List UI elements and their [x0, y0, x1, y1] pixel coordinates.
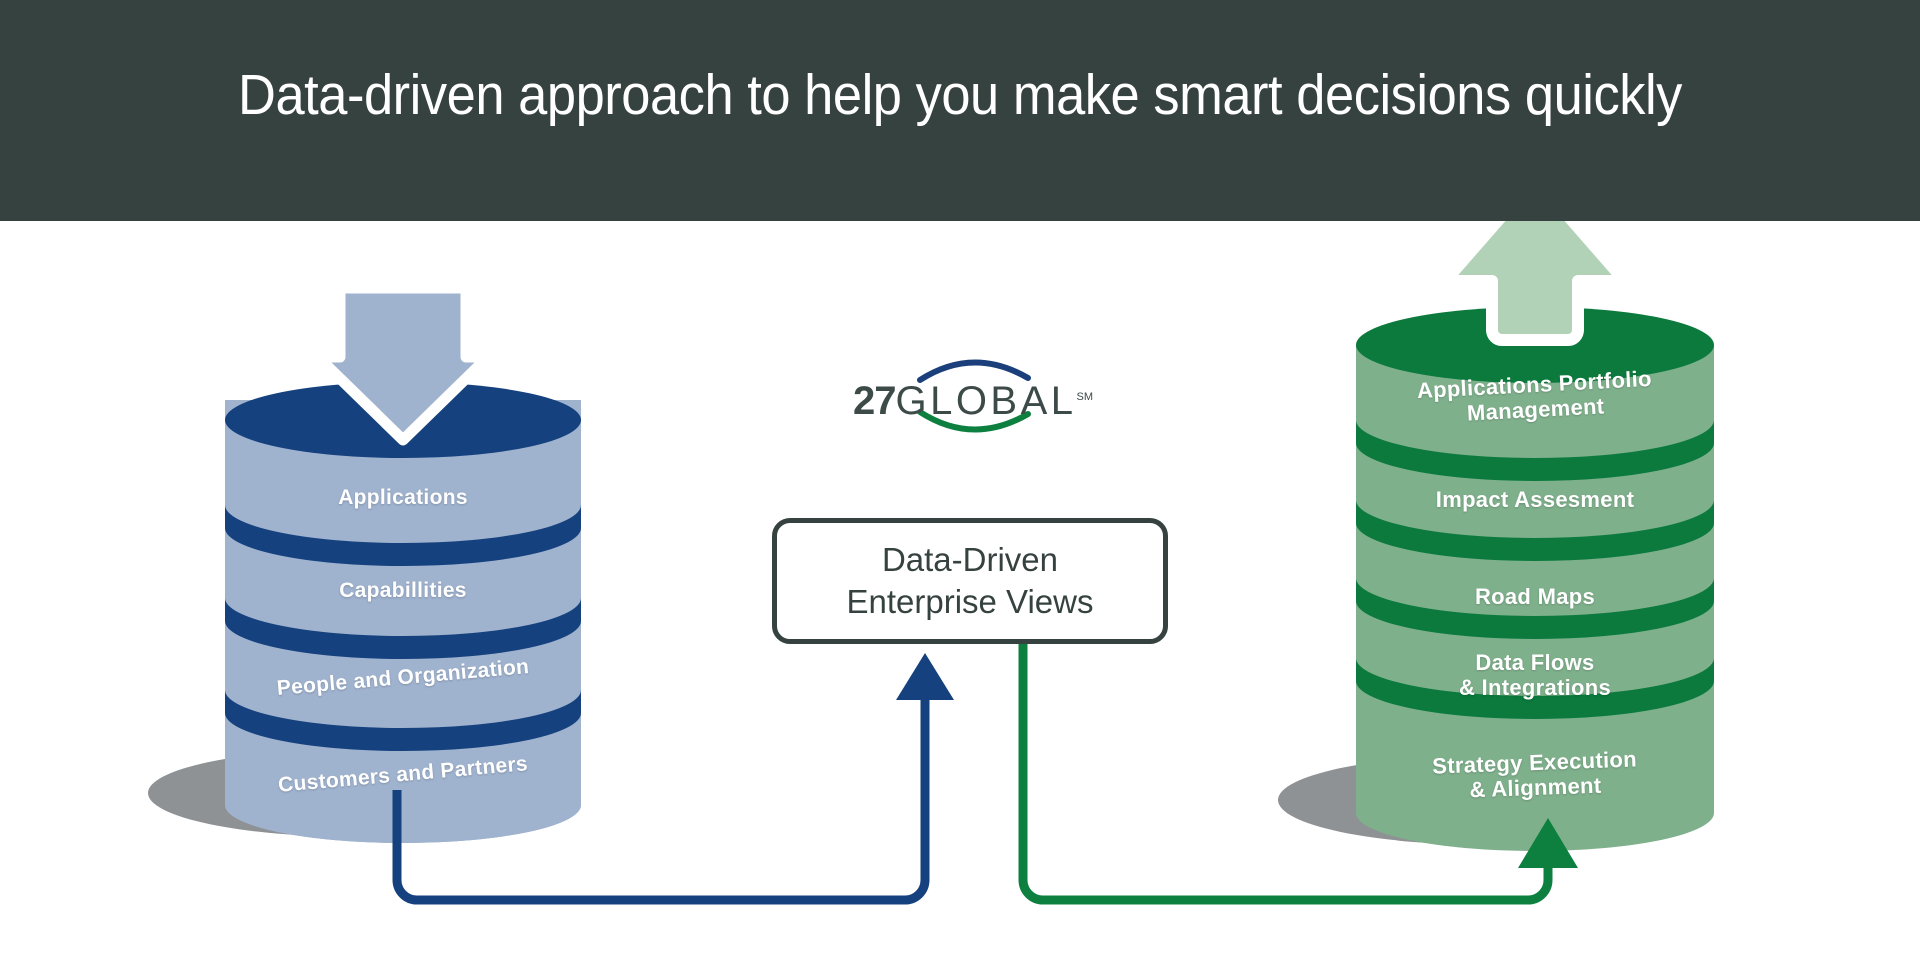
center-box-label: Data-Driven Enterprise Views — [846, 539, 1093, 623]
infographic-canvas: Data-driven approach to help you make sm… — [0, 0, 1920, 961]
page-title: Data-driven approach to help you make sm… — [77, 60, 1843, 130]
logo-wordmark: 27GLOBALSM — [838, 375, 1108, 423]
left-cylinder-group — [148, 288, 581, 843]
logo-trademark: SM — [1077, 391, 1094, 403]
logo-word: GLOBAL — [895, 379, 1076, 423]
logo-number: 27 — [853, 379, 896, 423]
27global-logo: 27GLOBALSM — [838, 350, 1108, 440]
right-cylinder-group — [1278, 178, 1714, 851]
data-driven-enterprise-views-box[interactable]: Data-Driven Enterprise Views — [772, 518, 1168, 644]
